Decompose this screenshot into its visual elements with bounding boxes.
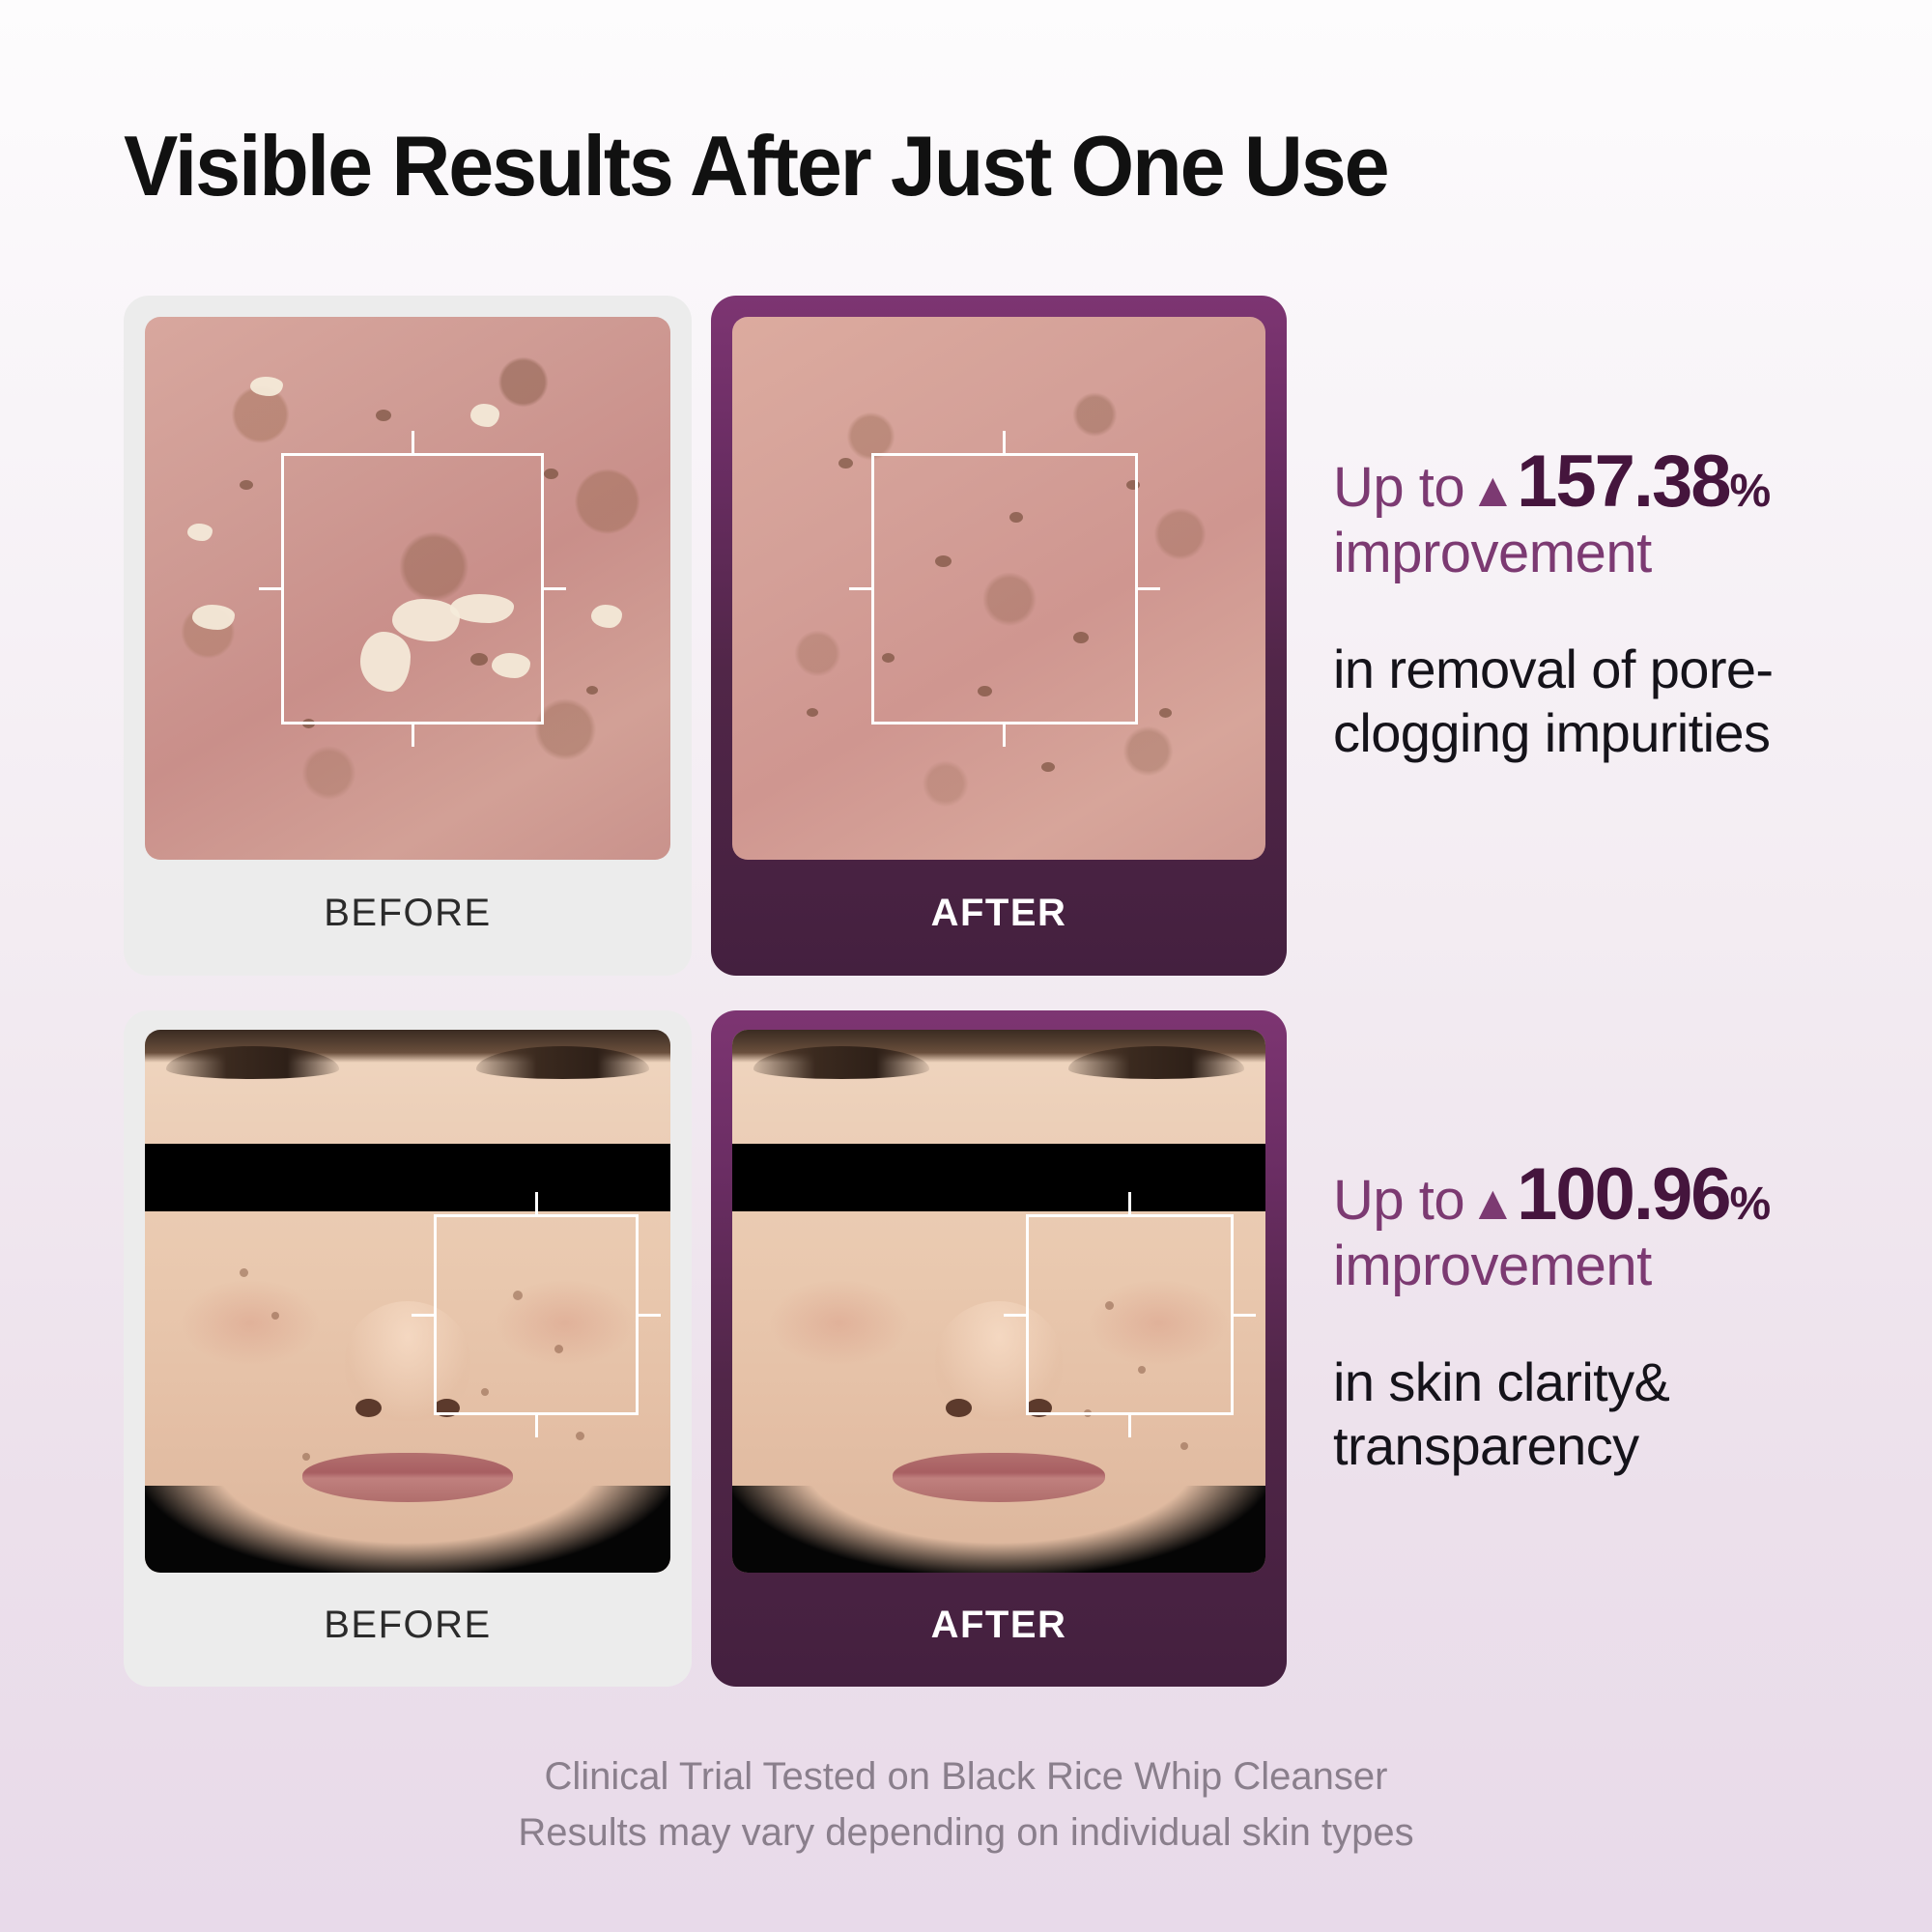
stat-improvement-label: improvement	[1333, 1233, 1932, 1301]
reticle-tick-bottom	[1003, 722, 1006, 747]
reticle-tick-bottom	[412, 722, 414, 747]
photo-after-macro-skin	[732, 317, 1265, 860]
footer-disclaimer: Clinical Trial Tested on Black Rice Whip…	[0, 1748, 1932, 1861]
reticle-tick-left	[259, 587, 284, 590]
reticle-tick-left	[1004, 1314, 1029, 1317]
stat-headline: Up to ▲100.96%	[1333, 1157, 1932, 1233]
comparison-card-before-full-face: BEFORE	[124, 1010, 692, 1687]
comparison-card-after-macro-skin: AFTER	[711, 296, 1287, 976]
increase-triangle-icon: ▲	[1469, 1176, 1518, 1230]
stat-unit: %	[1730, 466, 1772, 517]
reticle-tick-top	[535, 1192, 538, 1217]
stat-block-skin-clarity: Up to ▲100.96% improvement in skin clari…	[1333, 1157, 1932, 1477]
reticle-tick-bottom	[1128, 1412, 1131, 1437]
comparison-card-before-macro-skin: BEFORE	[124, 296, 692, 976]
stat-headline: Up to ▲157.38%	[1333, 444, 1932, 520]
stat-description: in skin clarity& transparency	[1333, 1350, 1932, 1477]
card-label-after: AFTER	[711, 860, 1287, 976]
footer-line-2: Results may vary depending on individual…	[0, 1804, 1932, 1861]
photo-before-full-face	[145, 1030, 670, 1573]
reticle-tick-top	[1128, 1192, 1131, 1217]
face-image	[145, 1030, 670, 1573]
increase-triangle-icon: ▲	[1469, 463, 1518, 517]
privacy-bar	[732, 1144, 1265, 1211]
card-label-after: AFTER	[711, 1573, 1287, 1687]
comparison-card-after-full-face: AFTER	[711, 1010, 1287, 1687]
skin-macro-image	[145, 317, 670, 860]
card-label-before: BEFORE	[124, 860, 692, 976]
skin-macro-image	[732, 317, 1265, 860]
stat-prefix: Up to	[1333, 456, 1464, 519]
reticle-tick-right	[1135, 587, 1160, 590]
stat-block-pore-impurities: Up to ▲157.38% improvement in removal of…	[1333, 444, 1932, 764]
focus-reticle	[434, 1214, 639, 1415]
focus-reticle	[871, 453, 1138, 724]
stat-unit: %	[1730, 1179, 1772, 1230]
reticle-tick-top	[412, 431, 414, 456]
stat-value: 100.96	[1517, 1153, 1729, 1236]
stat-improvement-label: improvement	[1333, 520, 1932, 588]
page-title: Visible Results After Just One Use	[124, 124, 1388, 209]
reticle-tick-left	[412, 1314, 437, 1317]
focus-reticle	[281, 453, 544, 724]
face-image	[732, 1030, 1265, 1573]
reticle-tick-right	[1231, 1314, 1256, 1317]
privacy-bar	[145, 1144, 670, 1211]
focus-reticle	[1026, 1214, 1234, 1415]
stat-description: in removal of pore-clogging impurities	[1333, 638, 1932, 764]
reticle-tick-right	[541, 587, 566, 590]
stat-prefix: Up to	[1333, 1169, 1464, 1232]
reticle-tick-left	[849, 587, 874, 590]
reticle-tick-right	[636, 1314, 661, 1317]
reticle-tick-bottom	[535, 1412, 538, 1437]
stat-value: 157.38	[1517, 440, 1729, 523]
footer-line-1: Clinical Trial Tested on Black Rice Whip…	[0, 1748, 1932, 1804]
photo-before-macro-skin	[145, 317, 670, 860]
reticle-tick-top	[1003, 431, 1006, 456]
card-label-before: BEFORE	[124, 1573, 692, 1687]
photo-after-full-face	[732, 1030, 1265, 1573]
